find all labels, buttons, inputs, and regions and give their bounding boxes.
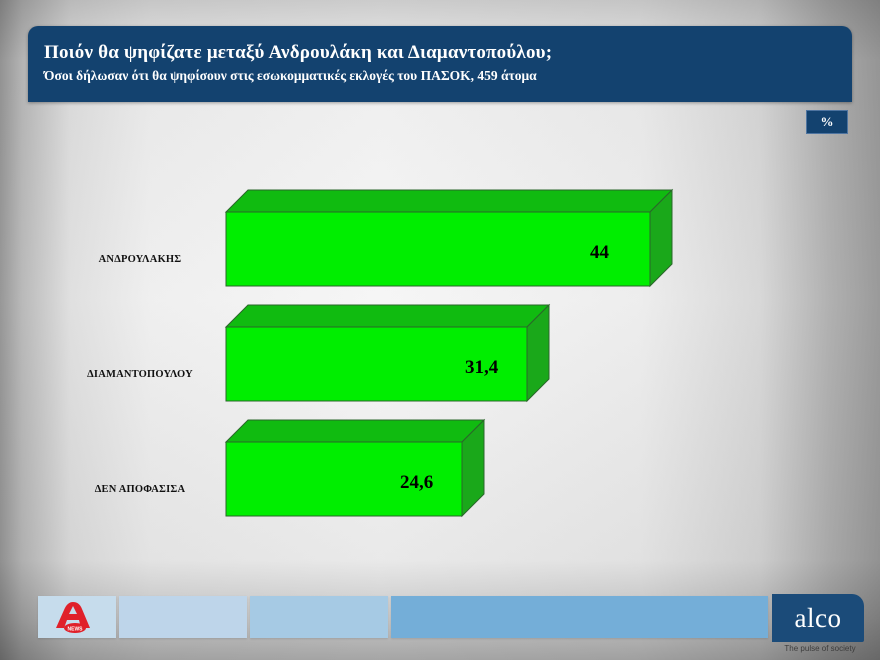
footer-segment-4	[391, 596, 768, 638]
bar-top-face	[226, 305, 549, 327]
footer-segment-2	[119, 596, 247, 638]
unit-badge-percent: %	[806, 110, 848, 134]
footer-segment-3	[250, 596, 388, 638]
alco-wordmark: alco	[795, 605, 842, 632]
bar-top-face	[226, 420, 484, 442]
footer-bar: NEWS alco The pulse of society	[0, 588, 880, 660]
bar-3d	[226, 420, 484, 538]
svg-text:NEWS: NEWS	[68, 627, 84, 633]
slide-root: Ποιόν θα ψηφίζατε μεταξύ Ανδρουλάκη και …	[0, 0, 880, 660]
bar-3d	[226, 305, 549, 423]
alpha-news-logo-icon: NEWS	[52, 600, 98, 634]
bar-front-face	[226, 212, 650, 286]
category-label: ΔΙΑΜΑΝΤΟΠΟΥΛΟΥ	[60, 369, 220, 380]
bar-value-label: 44	[590, 242, 609, 264]
category-label: ΑΝΔΡΟΥΛΑΚΗΣ	[60, 254, 220, 265]
bar-top-face	[226, 190, 672, 212]
bar-value-label: 31,4	[465, 357, 498, 379]
alco-tagline: The pulse of society	[772, 644, 868, 653]
alco-logo: alco	[772, 594, 864, 642]
header-banner: Ποιόν θα ψηφίζατε μεταξύ Ανδρουλάκη και …	[28, 26, 852, 102]
bar-value-label: 24,6	[400, 472, 433, 494]
page-subtitle: Όσοι δήλωσαν ότι θα ψηφίσουν στις εσωκομ…	[44, 68, 537, 84]
bar-chart: ΑΝΔΡΟΥΛΑΚΗΣ 44 ΔΙΑΜΑΝΤΟΠΟΥΛΟΥ 31,4	[0, 150, 880, 560]
category-label: ΔΕΝ ΑΠΟΦΑΣΙΣΑ	[60, 484, 220, 495]
page-title: Ποιόν θα ψηφίζατε μεταξύ Ανδρουλάκη και …	[44, 42, 552, 64]
